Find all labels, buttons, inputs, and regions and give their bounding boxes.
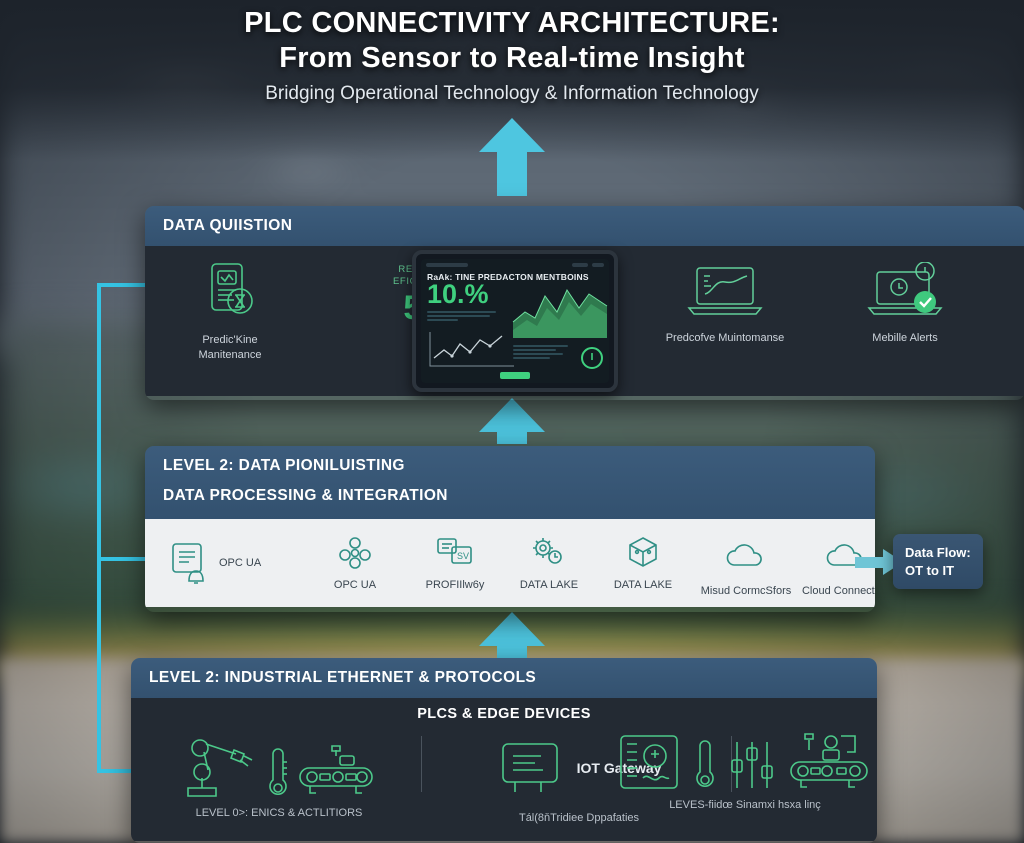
panel-middle-item-datalake-gear[interactable]: DATA LAKE bbox=[503, 535, 595, 591]
panel-top-header: DATA QUIISTION bbox=[145, 206, 1024, 246]
panel-middle-body: OPC UA OPC UA SV PROFIIlw6y bbox=[145, 519, 875, 607]
tablet-dashboard[interactable]: RaAk: TINE PREDACTON MENTBOINS 10.% bbox=[412, 250, 618, 392]
page-title-line1: PLC CONNECTIVITY ARCHITECTURE: bbox=[0, 6, 1024, 41]
panel-bottom-subtitle: PLCS & EDGE DEVICES bbox=[131, 706, 877, 722]
panel-top-item-label-3: Predcofve Muintomanse bbox=[645, 331, 805, 345]
panel-bottom-group-left-label: LEVEL 0>: ENICS & ACTLITIORS bbox=[149, 807, 409, 819]
devices-sync-icon: SV bbox=[435, 535, 475, 569]
data-flow-badge: Data Flow: OT to IT bbox=[893, 534, 983, 589]
conveyor-motor-icon bbox=[787, 732, 873, 794]
panel-middle-item-label-6: Cloud Connectars bbox=[791, 585, 875, 597]
plc-controller-icon bbox=[497, 738, 563, 798]
page-header: PLC CONNECTIVITY ARCHITECTURE: From Sens… bbox=[0, 0, 1024, 122]
panel-top-item-label-0-line1: Predic'Kine bbox=[165, 333, 295, 347]
panel-top-item-label-4: Mebille Alerts bbox=[825, 331, 985, 345]
robot-arm-icon bbox=[178, 732, 258, 802]
panel-data-processing[interactable]: LEVEL 2: DATA PIONILUISTING DATA PROCESS… bbox=[145, 446, 875, 612]
up-arrow-bottom-to-middle-icon bbox=[479, 612, 545, 658]
panel-middle-item-cloud-connectors-1[interactable]: Misud CormcSfors bbox=[691, 535, 801, 597]
panel-bottom-group-middle-caption: Tál(8ňTridiee Dppafaties bbox=[439, 812, 719, 824]
panel-middle-item-label-0: OPC UA bbox=[219, 557, 261, 569]
tablet-gauge-ring-icon bbox=[579, 345, 605, 371]
tablet-topbar-chip-b bbox=[592, 263, 604, 267]
cloud-icon bbox=[724, 541, 768, 575]
tablet-action-button[interactable] bbox=[500, 372, 530, 379]
tablet-kpi-desc bbox=[421, 308, 511, 326]
panel-middle-item-label-5: Misud CormcSfors bbox=[691, 585, 801, 597]
document-bell-icon bbox=[169, 541, 211, 585]
laptop-alert-check-icon bbox=[865, 262, 945, 320]
svg-text:SV: SV bbox=[457, 551, 469, 561]
tablet-line-chart bbox=[426, 326, 518, 370]
data-flow-badge-line1: Data Flow: bbox=[905, 544, 971, 562]
up-arrow-to-header-icon bbox=[479, 118, 545, 196]
panel-bottom-group-sensors-actuators[interactable]: LEVEL 0>: ENICS & ACTLITIORS bbox=[149, 732, 409, 819]
panel-bottom-body: PLCS & EDGE DEVICES bbox=[131, 698, 877, 841]
panel-top-item-label-0-line2: Manitenance bbox=[165, 348, 295, 362]
thermometer-sliders-icon bbox=[727, 738, 777, 794]
panel-bottom-divider-left bbox=[421, 736, 422, 792]
up-arrow-middle-to-top-icon bbox=[479, 398, 545, 444]
rail-vertical-line bbox=[97, 283, 101, 773]
panel-middle-item-profinet[interactable]: SV PROFIIlw6y bbox=[409, 535, 501, 591]
panel-bottom-group-right-label: LEVES-fiidœ Sinamxi hsxa linç bbox=[605, 799, 877, 811]
gear-cloud-icon bbox=[529, 535, 569, 569]
thermometer-icon bbox=[264, 746, 290, 802]
panel-middle-item-label-3: DATA LAKE bbox=[503, 579, 595, 591]
panel-data-acquisition[interactable]: DATA QUIISTION Predic'Kine Manitenance R… bbox=[145, 206, 1024, 400]
panel-middle-header-line1: LEVEL 2: DATA PIONILUISTING bbox=[163, 457, 875, 475]
panel-top-body: Predic'Kine Manitenance REAL- TIME EFICS… bbox=[145, 246, 1024, 396]
page-subtitle: Bridging Operational Technology & Inform… bbox=[0, 83, 1024, 105]
panel-middle-item-label-4: DATA LAKE bbox=[597, 579, 689, 591]
panel-middle-item-label-2: PROFIIlw6y bbox=[409, 579, 501, 591]
hmi-panel-icon bbox=[617, 732, 681, 794]
molecule-node-icon bbox=[337, 535, 373, 569]
panel-middle-item-opcua-doc[interactable]: OPC UA bbox=[169, 541, 261, 585]
panel-middle-header-line2: DATA PROCESSING & INTEGRATION bbox=[163, 487, 875, 505]
mobile-device-icon bbox=[202, 260, 258, 322]
tablet-topbar-chip-left bbox=[426, 263, 468, 267]
panel-middle-header: LEVEL 2: DATA PIONILUISTING DATA PROCESS… bbox=[145, 446, 875, 519]
tablet-topbar bbox=[421, 259, 609, 271]
panel-top-item-predictive-maintenance[interactable]: Predic'Kine Manitenance bbox=[165, 260, 295, 362]
page-title-line2: From Sensor to Real-time Insight bbox=[0, 41, 1024, 76]
panel-middle-item-opcua-node[interactable]: OPC UA bbox=[315, 535, 395, 591]
tablet-kpi-value: 10.% bbox=[421, 282, 511, 308]
thermometer-icon bbox=[691, 738, 717, 794]
panel-bottom-header: LEVEL 2: INDUSTRIAL ETHERNET & PROTOCOLS bbox=[131, 658, 877, 698]
panel-bottom-group-field-devices[interactable]: LEVES-fiidœ Sinamxi hsxa linç bbox=[605, 732, 877, 811]
tablet-screen: RaAk: TINE PREDACTON MENTBOINS 10.% bbox=[421, 259, 609, 383]
tablet-area-chart bbox=[511, 282, 609, 338]
panel-middle-item-datalake-cube[interactable]: DATA LAKE bbox=[597, 535, 689, 591]
laptop-chart-icon bbox=[685, 262, 765, 320]
tablet-topbar-chip-a bbox=[572, 263, 588, 267]
cube-box-icon bbox=[625, 535, 661, 569]
panel-top-item-predictive-maintenance-laptop[interactable]: Predcofve Muintomanse bbox=[645, 262, 805, 346]
panel-industrial-ethernet[interactable]: LEVEL 2: INDUSTRIAL ETHERNET & PROTOCOLS… bbox=[131, 658, 877, 843]
data-flow-badge-line2: OT to IT bbox=[905, 562, 971, 580]
panel-top-item-mobile-alerts[interactable]: Mebille Alerts bbox=[825, 262, 985, 346]
panel-middle-item-label-1: OPC UA bbox=[315, 579, 395, 591]
conveyor-sensor-icon bbox=[296, 744, 380, 802]
